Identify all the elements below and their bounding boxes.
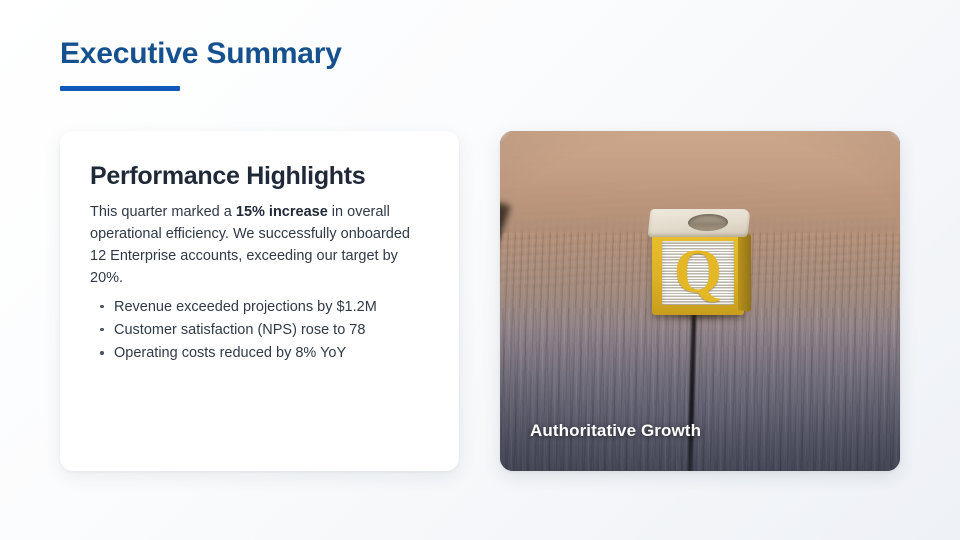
body-text-lead: This quarter marked a <box>90 204 236 220</box>
list-item: Operating costs reduced by 8% YoY <box>90 342 429 365</box>
highlights-bullet-list: Revenue exceeded projections by $1.2M Cu… <box>90 296 429 366</box>
image-caption: Authoritative Growth <box>530 421 701 441</box>
slide-header: Executive Summary <box>60 36 342 91</box>
list-item: Revenue exceeded projections by $1.2M <box>90 296 429 319</box>
title-accent-underline <box>60 86 180 91</box>
card-heading: Performance Highlights <box>90 161 429 192</box>
content-cards-row: Performance Highlights This quarter mark… <box>60 131 900 471</box>
deck-photo: Q <box>500 131 900 471</box>
performance-highlights-card: Performance Highlights This quarter mark… <box>60 131 459 471</box>
caption-scrim-gradient <box>500 328 900 471</box>
page-title: Executive Summary <box>60 36 342 72</box>
list-item: Customer satisfaction (NPS) rose to 78 <box>90 319 429 342</box>
authoritative-growth-image-card: Q Authoritative Growth <box>500 131 900 471</box>
body-text-emphasis: 15% increase <box>236 204 328 220</box>
card-body-paragraph: This quarter marked a 15% increase in ov… <box>90 201 429 289</box>
